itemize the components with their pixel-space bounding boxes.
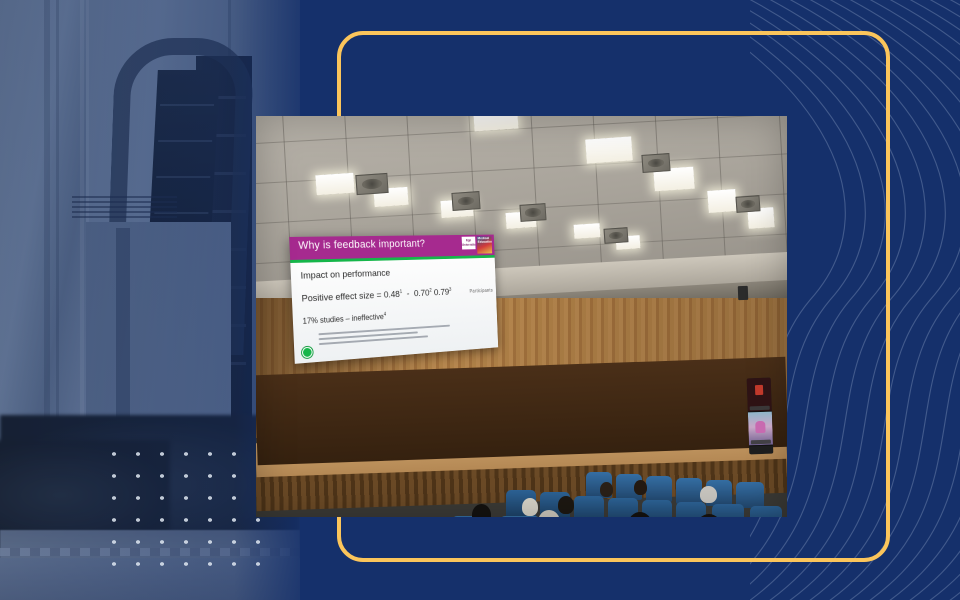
seat xyxy=(750,506,782,517)
seat xyxy=(646,476,672,502)
video-tile-label xyxy=(750,406,770,411)
ceiling-vent xyxy=(451,191,480,211)
ceiling-vent xyxy=(604,227,629,244)
ceiling-vent xyxy=(355,173,388,195)
dot-grid-pattern xyxy=(100,441,260,581)
auditorium-photo: Why is feedback important? Ege Universit… xyxy=(256,116,787,517)
effect-size-2: 0.70 xyxy=(414,288,430,299)
seat xyxy=(500,516,540,517)
ceiling-vent xyxy=(735,195,760,213)
slide-title: Why is feedback important? xyxy=(298,238,425,252)
audience-seating xyxy=(256,468,787,517)
slide-body: Impact on performance Positive effect si… xyxy=(290,258,498,364)
slide-logos: Ege Universitesi Medical Education xyxy=(462,236,493,254)
slide-line-2: Positive effect size = 0.481 - 0.702 0.7… xyxy=(301,286,488,305)
wall-speaker xyxy=(738,286,748,300)
stage-backdrop xyxy=(256,357,787,465)
slide-line-1: Impact on performance xyxy=(300,265,487,282)
poster-canvas: Why is feedback important? Ege Universit… xyxy=(0,0,960,600)
ref-2: 2 xyxy=(429,288,432,294)
audience-head xyxy=(600,482,613,497)
dash: - xyxy=(407,289,410,299)
ref-1: 1 xyxy=(400,289,403,295)
audience-head xyxy=(634,480,647,495)
ref-4: 4 xyxy=(384,312,387,318)
audience-head xyxy=(522,498,538,516)
effect-size-3: 0.79 xyxy=(434,287,450,298)
seat xyxy=(676,502,706,517)
ref-3: 3 xyxy=(449,287,451,293)
effect-size-label: Positive effect size = 0.48 xyxy=(301,290,400,305)
meeting-label: Participants xyxy=(470,288,493,294)
projection-screen: Why is feedback important? Ege Universit… xyxy=(289,235,498,364)
conference-logo: Medical Education xyxy=(477,236,492,253)
video-tile-label xyxy=(751,440,771,445)
seat xyxy=(676,478,702,504)
ceiling-vent xyxy=(519,203,546,222)
university-logo: Ege Universitesi xyxy=(462,237,476,250)
ceiling-light xyxy=(585,136,633,163)
seat xyxy=(712,504,744,517)
audience-head xyxy=(700,486,717,503)
video-tile xyxy=(747,378,772,413)
video-call-panel xyxy=(747,378,774,455)
video-tile xyxy=(748,412,773,447)
audience-head xyxy=(472,504,491,517)
slide-footnotes xyxy=(318,325,450,348)
ceiling-light xyxy=(315,173,354,196)
recording-indicator-icon xyxy=(302,347,313,359)
ceiling-light xyxy=(574,223,601,239)
conference-logo-text: Medical Education xyxy=(477,236,492,243)
seat xyxy=(574,496,604,517)
slide-line-3: 17% studies – ineffective4 xyxy=(302,306,489,326)
ceiling-light xyxy=(707,189,736,213)
audience-head xyxy=(558,496,574,514)
ceiling-vent xyxy=(641,153,670,173)
ineffective-label: 17% studies – ineffective xyxy=(302,313,384,326)
